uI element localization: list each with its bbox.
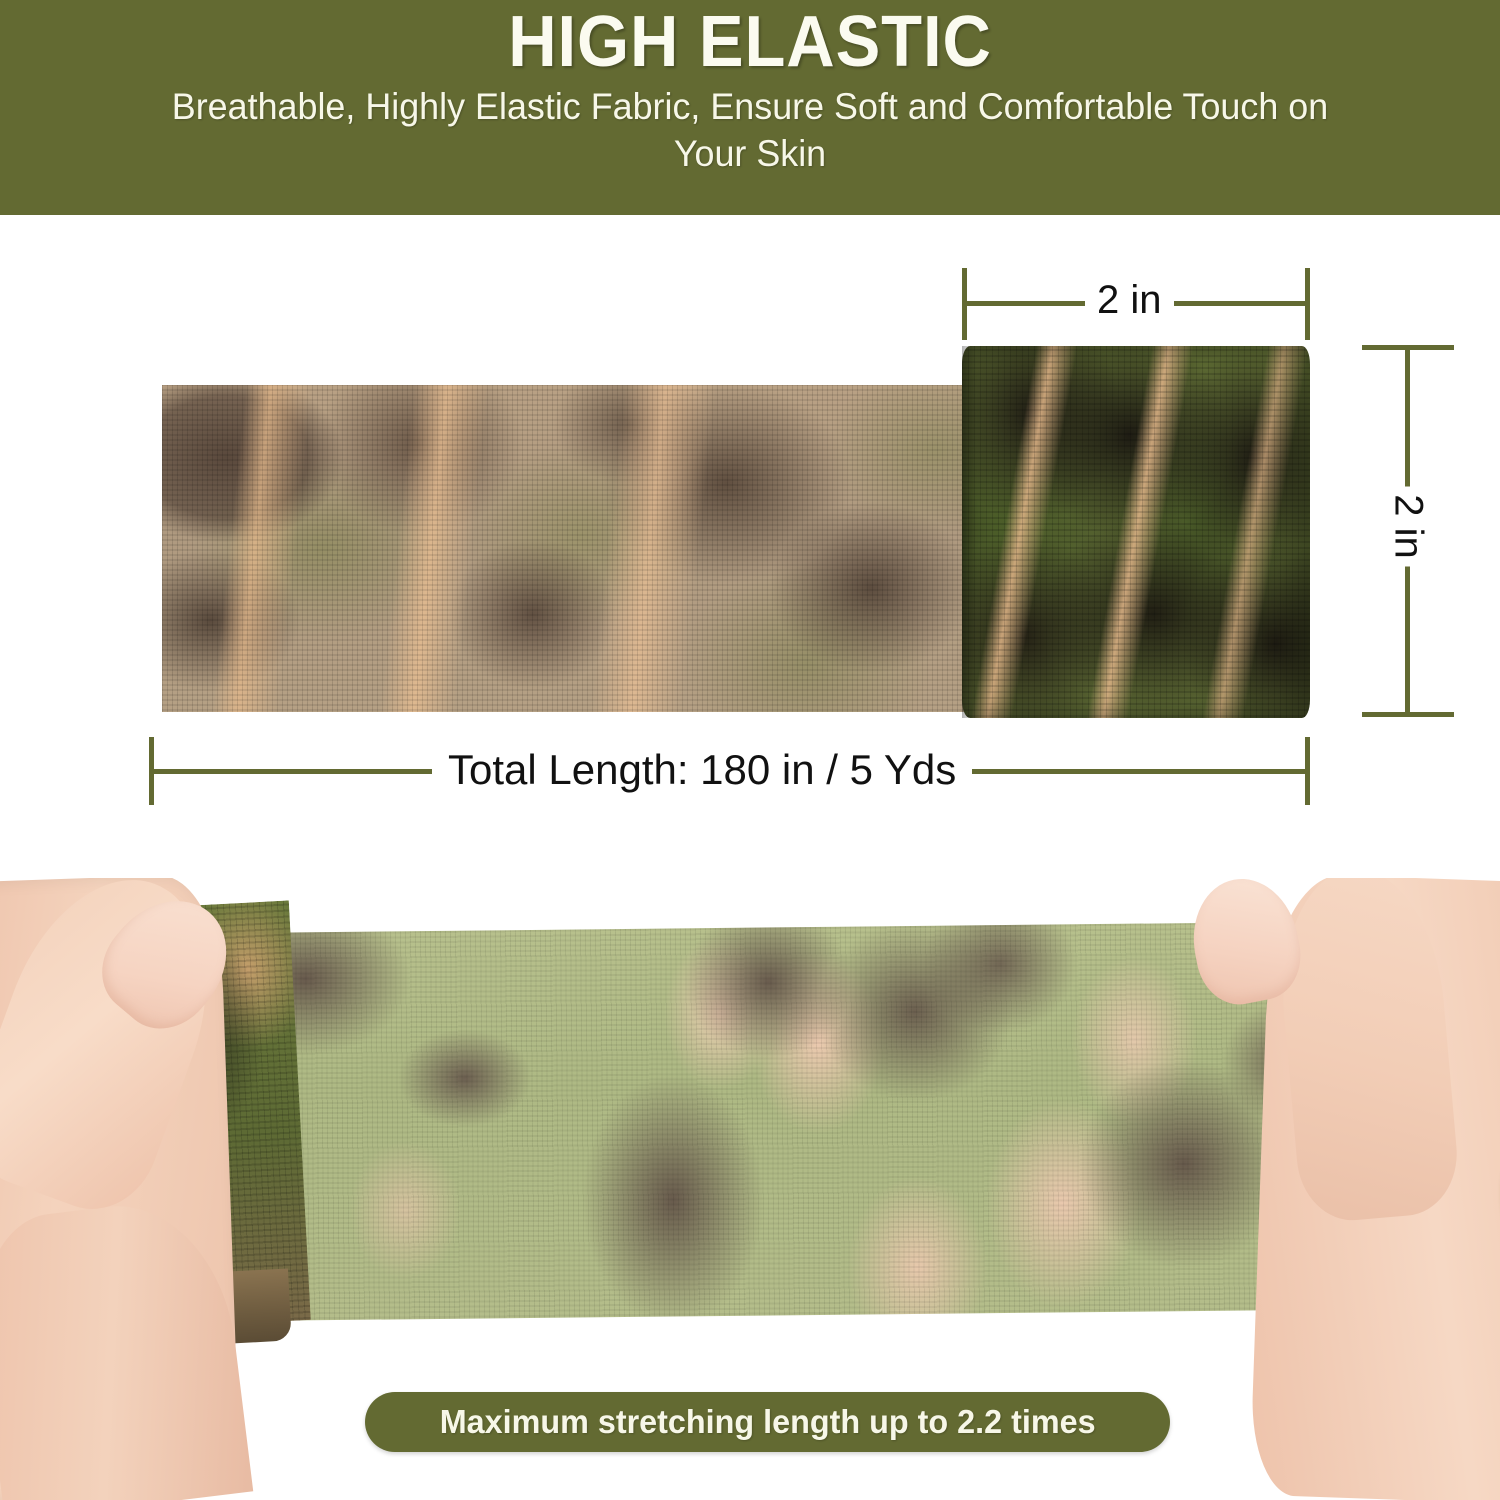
flat-tape-strip — [162, 385, 968, 712]
right-hand — [1249, 878, 1500, 1500]
header-banner: HIGH ELASTIC Breathable, Highly Elastic … — [0, 0, 1500, 215]
length-dim-label: Total Length: 180 in / 5 Yds — [432, 746, 972, 794]
left-thumb — [0, 878, 243, 1226]
page-title: HIGH ELASTIC — [508, 6, 992, 78]
roll-seam-shadow — [962, 346, 976, 718]
height-dim-label: 2 in — [1380, 487, 1437, 567]
gold-ring — [1490, 1145, 1500, 1305]
tape-roll-end — [962, 346, 1310, 718]
stretch-badge-label: Maximum stretching length up to 2.2 time… — [440, 1403, 1096, 1441]
right-thumb — [1272, 878, 1462, 1225]
header-subtitle: Breathable, Highly Elastic Fabric, Ensur… — [158, 84, 1341, 178]
product-infographic: HIGH ELASTIC Breathable, Highly Elastic … — [0, 0, 1500, 1500]
width-dim-label: 2 in — [1085, 278, 1174, 323]
left-hand — [0, 878, 241, 1500]
left-hand-fingers — [0, 1193, 253, 1500]
stretch-badge: Maximum stretching length up to 2.2 time… — [365, 1392, 1170, 1452]
